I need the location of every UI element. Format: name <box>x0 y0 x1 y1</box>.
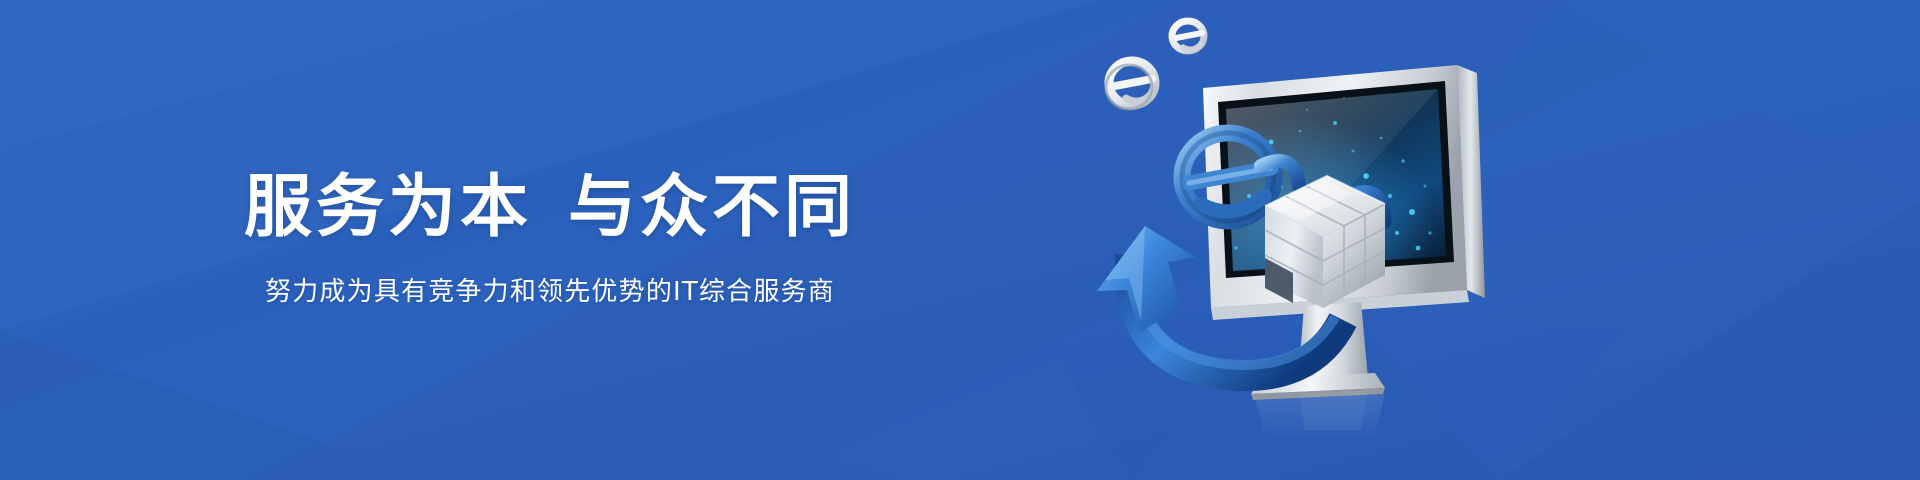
polygonal-background <box>0 0 1920 480</box>
floating-e-logo-1 <box>1106 61 1155 109</box>
hero-banner: 服务为本与众不同 努力成为具有竞争力和领先优势的IT综合服务商 <box>0 0 1920 480</box>
floating-e-logo-2 <box>1172 21 1204 51</box>
banner-artwork <box>1085 0 1505 480</box>
